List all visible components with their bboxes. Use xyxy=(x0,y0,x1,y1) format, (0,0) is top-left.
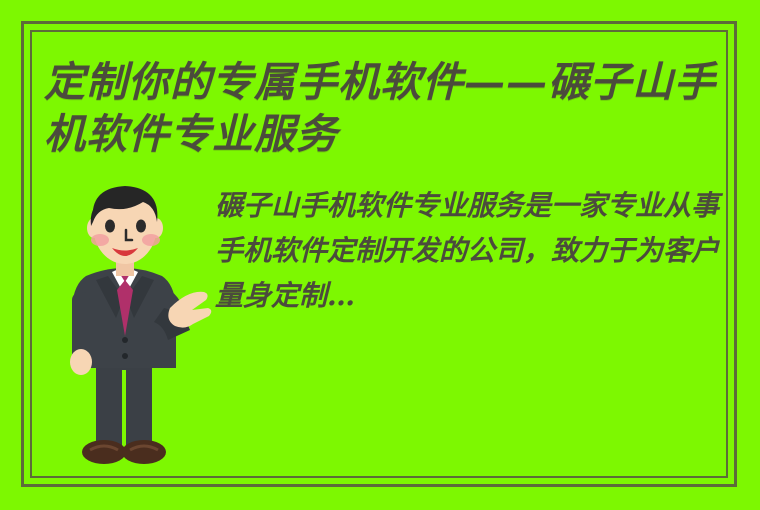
page-title: 定制你的专属手机软件——碾子山手机软件专业服务 xyxy=(44,56,728,160)
body-paragraph: 碾子山手机软件专业服务是一家专业从事手机软件定制开发的公司，致力于为客户量身定制… xyxy=(215,183,731,318)
shoes-shape xyxy=(82,440,166,464)
businessman-illustration xyxy=(52,180,212,480)
left-arm-shape xyxy=(70,292,92,375)
poster-canvas: 定制你的专属手机软件——碾子山手机软件专业服务 碾子山手机软件专业服务是一家专业… xyxy=(0,0,760,510)
head-shape xyxy=(87,186,163,276)
